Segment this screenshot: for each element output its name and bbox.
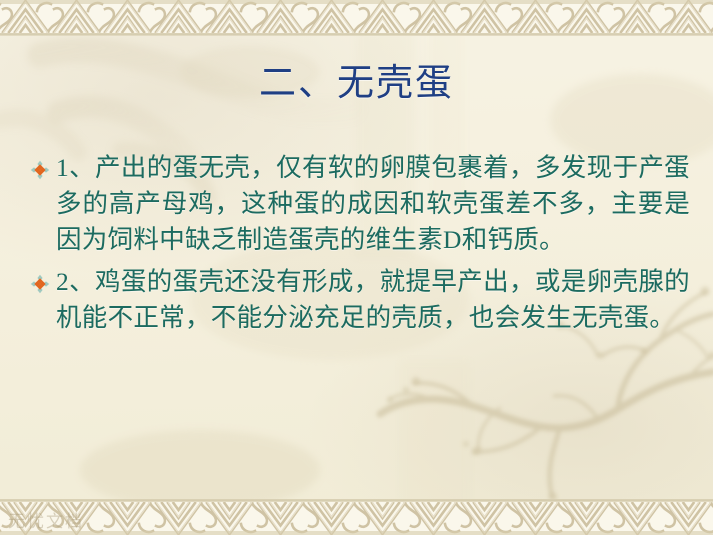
slide-title: 二、无壳蛋 (0, 62, 713, 106)
diamond-cluster-bullet-icon (30, 264, 56, 294)
slide-content: 二、无壳蛋 (0, 0, 713, 535)
bullet-list: 1、产出的蛋无壳，仅有软的卵膜包裹着，多发现于产蛋多的高产母鸡，这种蛋的成因和软… (30, 150, 690, 342)
list-item-text: 1、产出的蛋无壳，仅有软的卵膜包裹着，多发现于产蛋多的高产母鸡，这种蛋的成因和软… (56, 150, 690, 258)
list-item: 2、鸡蛋的蛋壳还没有形成，就提早产出，或是卵壳腺的机能不正常，不能分泌充足的壳质… (30, 264, 690, 336)
list-item-text: 2、鸡蛋的蛋壳还没有形成，就提早产出，或是卵壳腺的机能不正常，不能分泌充足的壳质… (56, 264, 690, 336)
corner-watermark: 无忧文档 (8, 507, 84, 532)
list-item: 1、产出的蛋无壳，仅有软的卵膜包裹着，多发现于产蛋多的高产母鸡，这种蛋的成因和软… (30, 150, 690, 258)
diamond-cluster-bullet-icon (30, 150, 56, 180)
presentation-slide: 二、无壳蛋 (0, 0, 713, 535)
